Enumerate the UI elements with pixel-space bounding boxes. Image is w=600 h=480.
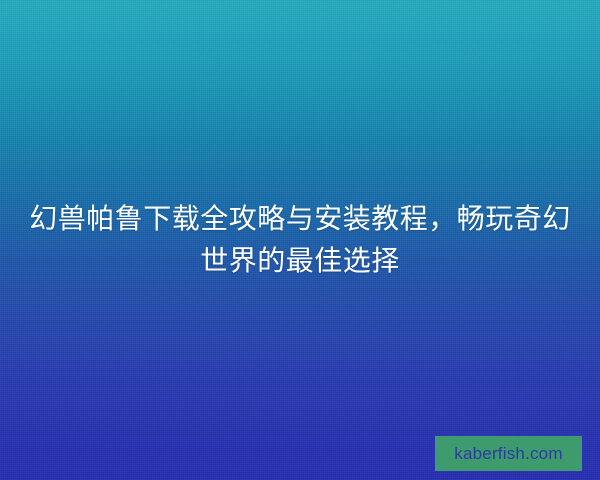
watermark-label: kaberfish.com: [454, 445, 562, 462]
page-title: 幻兽帕鲁下载全攻略与安装教程，畅玩奇幻世界的最佳选择: [26, 198, 574, 282]
cover-image: 幻兽帕鲁下载全攻略与安装教程，畅玩奇幻世界的最佳选择 kaberfish.com: [0, 0, 600, 480]
watermark-badge: kaberfish.com: [435, 436, 582, 471]
title-block: 幻兽帕鲁下载全攻略与安装教程，畅玩奇幻世界的最佳选择: [0, 198, 600, 282]
